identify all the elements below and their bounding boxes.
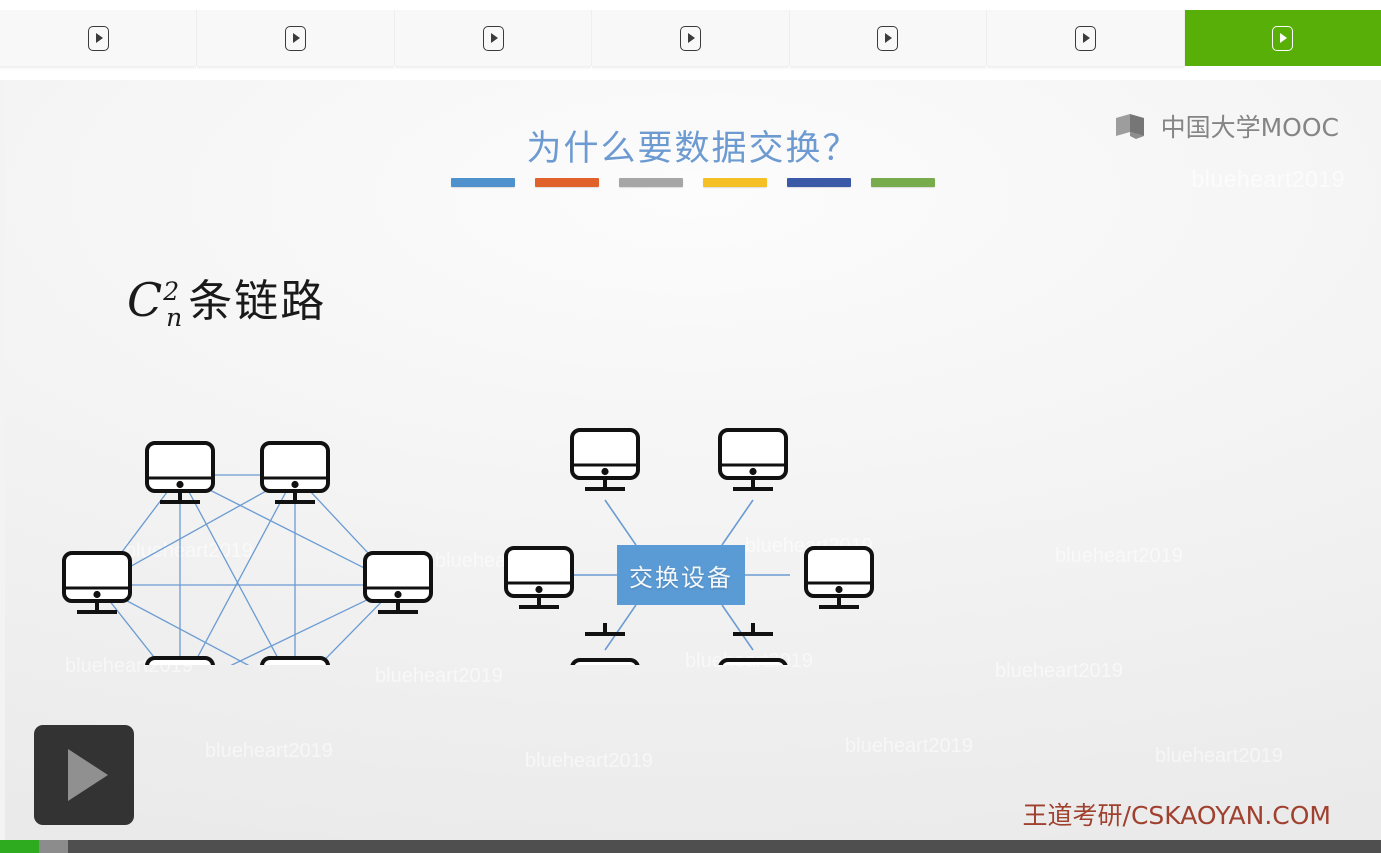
star-node-left [506,548,572,607]
play-icon [483,26,504,51]
segment-button-4[interactable] [592,10,789,66]
play-icon [68,749,108,801]
mooc-logo: 中国大学MOOC [1114,108,1339,144]
segment-button-6[interactable] [987,10,1184,66]
switch-device-box: 交换设备 [617,545,745,605]
mooc-logo-text: 中国大学MOOC [1161,108,1339,144]
play-icon [88,26,109,51]
star-topology-diagram [490,345,910,683]
star-node-bottom-right [720,660,786,665]
accent-bar-5 [787,178,851,187]
play-icon [1075,26,1096,51]
formula-subscript: n [166,303,182,332]
background-watermark: blueheart2019 [1155,745,1283,768]
video-player-page: blueheart2019 blueheart2019 blueheart201… [0,0,1381,853]
mesh-node-top-left [147,443,213,502]
play-icon [680,26,701,51]
accent-bar-3 [619,178,683,187]
video-progress-bar[interactable] [0,840,1381,853]
book-logo-icon [1114,112,1154,140]
link-count-formula: C2n条链路 [127,265,326,332]
formula-suffix: 条链路 [188,276,326,327]
play-icon [1272,26,1293,51]
formula-superscript: 2 [163,277,179,306]
slide-canvas: blueheart2019 blueheart2019 blueheart201… [5,80,1381,840]
mesh-node-right [365,553,431,612]
brand-watermark: 王道考研/CSKAOYAN.COM [1023,796,1331,832]
star-node-top-right [720,430,786,489]
mesh-node-top-right [262,443,328,502]
progress-played [0,840,39,853]
mesh-node-left [64,553,130,612]
segment-button-5[interactable] [790,10,987,66]
play-icon [877,26,898,51]
background-watermark: blueheart2019 [1055,545,1183,568]
star-node-top-left [572,430,638,489]
accent-bar-4 [703,178,767,187]
play-icon [285,26,306,51]
chapter-segment-bar [0,10,1381,66]
segment-button-1[interactable] [0,10,197,66]
background-watermark: blueheart2019 [525,750,653,773]
star-bottom-node-stands [490,623,910,683]
background-watermark: blueheart2019 [375,665,503,688]
video-stage[interactable]: blueheart2019 blueheart2019 blueheart201… [0,80,1381,840]
accent-bar-2 [535,178,599,187]
background-watermark: blueheart2019 [845,735,973,758]
overlay-play-button[interactable] [34,725,134,825]
user-watermark: blueheart2019 [1191,166,1345,193]
segment-button-7-active[interactable] [1185,10,1381,66]
segment-button-2[interactable] [197,10,394,66]
formula-symbol: C [127,273,162,327]
background-watermark: blueheart2019 [995,660,1123,683]
title-accent-bars [5,178,1381,187]
star-node-bottom-left [572,660,638,665]
accent-bar-6 [871,178,935,187]
mesh-node-bottom-left [147,658,213,665]
accent-bar-1 [451,178,515,187]
background-watermark: blueheart2019 [205,740,333,763]
full-mesh-diagram [40,345,470,665]
star-node-right [806,548,872,607]
segment-button-3[interactable] [395,10,592,66]
mesh-node-bottom-right [262,658,328,665]
